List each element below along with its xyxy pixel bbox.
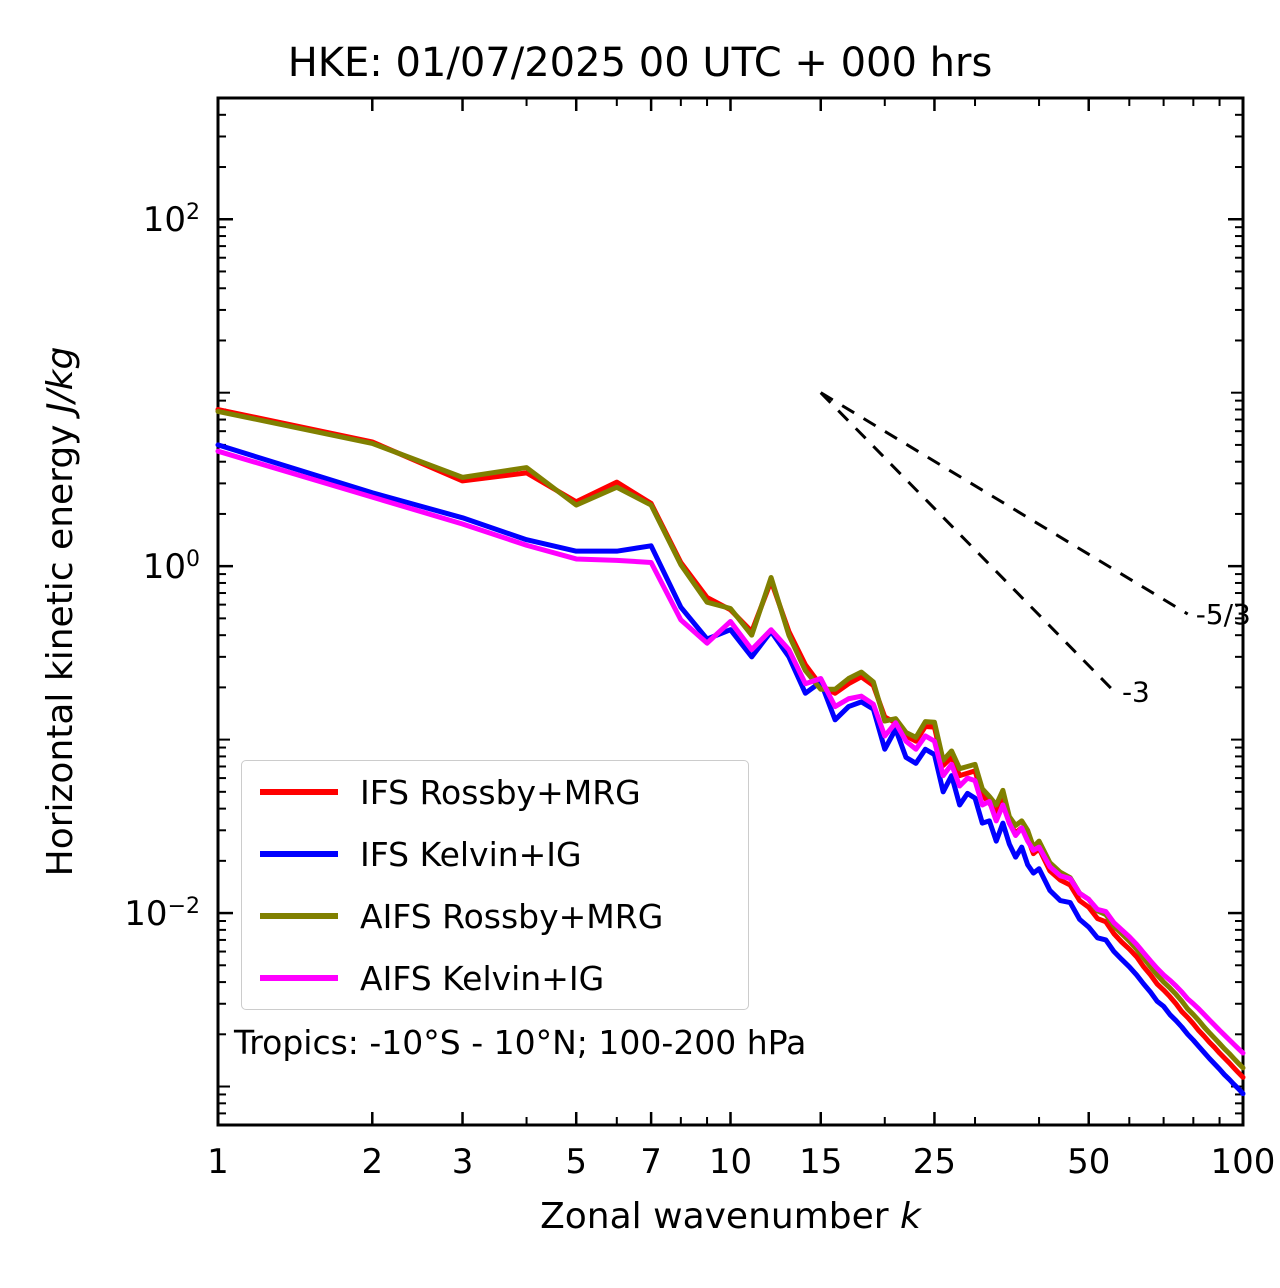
x-tick-label: 5 bbox=[565, 1142, 587, 1182]
legend-swatch-ifs-kelvin-ig bbox=[260, 851, 338, 857]
y-tick-label: 10−2 bbox=[124, 894, 200, 935]
plot-area: 1235710152550100 10210010−2 -5/3-3 Zonal… bbox=[0, 0, 1280, 1288]
legend-label: AIFS Kelvin+IG bbox=[360, 962, 604, 995]
legend-label: IFS Kelvin+IG bbox=[360, 838, 582, 871]
x-tick-label: 100 bbox=[1211, 1142, 1276, 1182]
x-tick-label: 50 bbox=[1067, 1142, 1110, 1182]
legend-item[interactable]: AIFS Rossby+MRG bbox=[242, 885, 748, 947]
x-tick-label: 15 bbox=[799, 1142, 842, 1182]
x-tick-label: 25 bbox=[913, 1142, 956, 1182]
x-axis-title: Zonal wavenumber k bbox=[540, 1196, 923, 1237]
reference-line-label: -5/3 bbox=[1196, 598, 1251, 631]
legend-swatch-aifs-rossby-mrg bbox=[260, 913, 338, 919]
y-tick-label: 100 bbox=[143, 547, 200, 588]
legend-label: AIFS Rossby+MRG bbox=[360, 900, 663, 933]
region-annotation: Tropics: -10°S - 10°N; 100-200 hPa bbox=[234, 1023, 806, 1062]
legend[interactable]: IFS Rossby+MRG IFS Kelvin+IG AIFS Rossby… bbox=[241, 760, 749, 1010]
x-tick-label: 7 bbox=[640, 1142, 662, 1182]
x-tick-label: 1 bbox=[207, 1142, 229, 1182]
reference-line-minus-3 bbox=[821, 393, 1114, 692]
legend-swatch-aifs-kelvin-ig bbox=[260, 975, 338, 981]
x-tick-label: 10 bbox=[709, 1142, 752, 1182]
reference-slope-lines: -5/3-3 bbox=[821, 393, 1251, 709]
x-tick-label: 2 bbox=[361, 1142, 383, 1182]
legend-item[interactable]: AIFS Kelvin+IG bbox=[242, 947, 748, 1009]
y-tick-label: 102 bbox=[143, 200, 200, 241]
figure-canvas: HKE: 01/07/2025 00 UTC + 000 hrs 1235710… bbox=[0, 0, 1280, 1288]
x-tick-label: 3 bbox=[452, 1142, 474, 1182]
y-axis-title: Horizontal kinetic energy J/kg bbox=[40, 347, 81, 877]
legend-item[interactable]: IFS Rossby+MRG bbox=[242, 761, 748, 823]
legend-swatch-ifs-rossby-mrg bbox=[260, 789, 338, 795]
legend-item[interactable]: IFS Kelvin+IG bbox=[242, 823, 748, 885]
legend-label: IFS Rossby+MRG bbox=[360, 776, 641, 809]
reference-line-label: -3 bbox=[1122, 675, 1150, 708]
